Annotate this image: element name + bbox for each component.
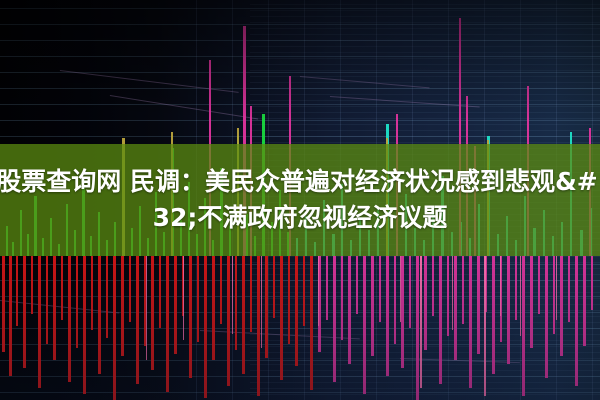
headline-text: 股票查询网 民调：美民众普遍对经济状况感到悲观&# 32;不满政府忽视经济议题	[0, 144, 600, 256]
headline-line-2: 32;不满政府忽视经济议题	[153, 201, 448, 235]
news-banner-image: 股票查询网 民调：美民众普遍对经济状况感到悲观&# 32;不满政府忽视经济议题	[0, 0, 600, 400]
headline-line-1: 股票查询网 民调：美民众普遍对经济状况感到悲观&#	[0, 165, 598, 199]
